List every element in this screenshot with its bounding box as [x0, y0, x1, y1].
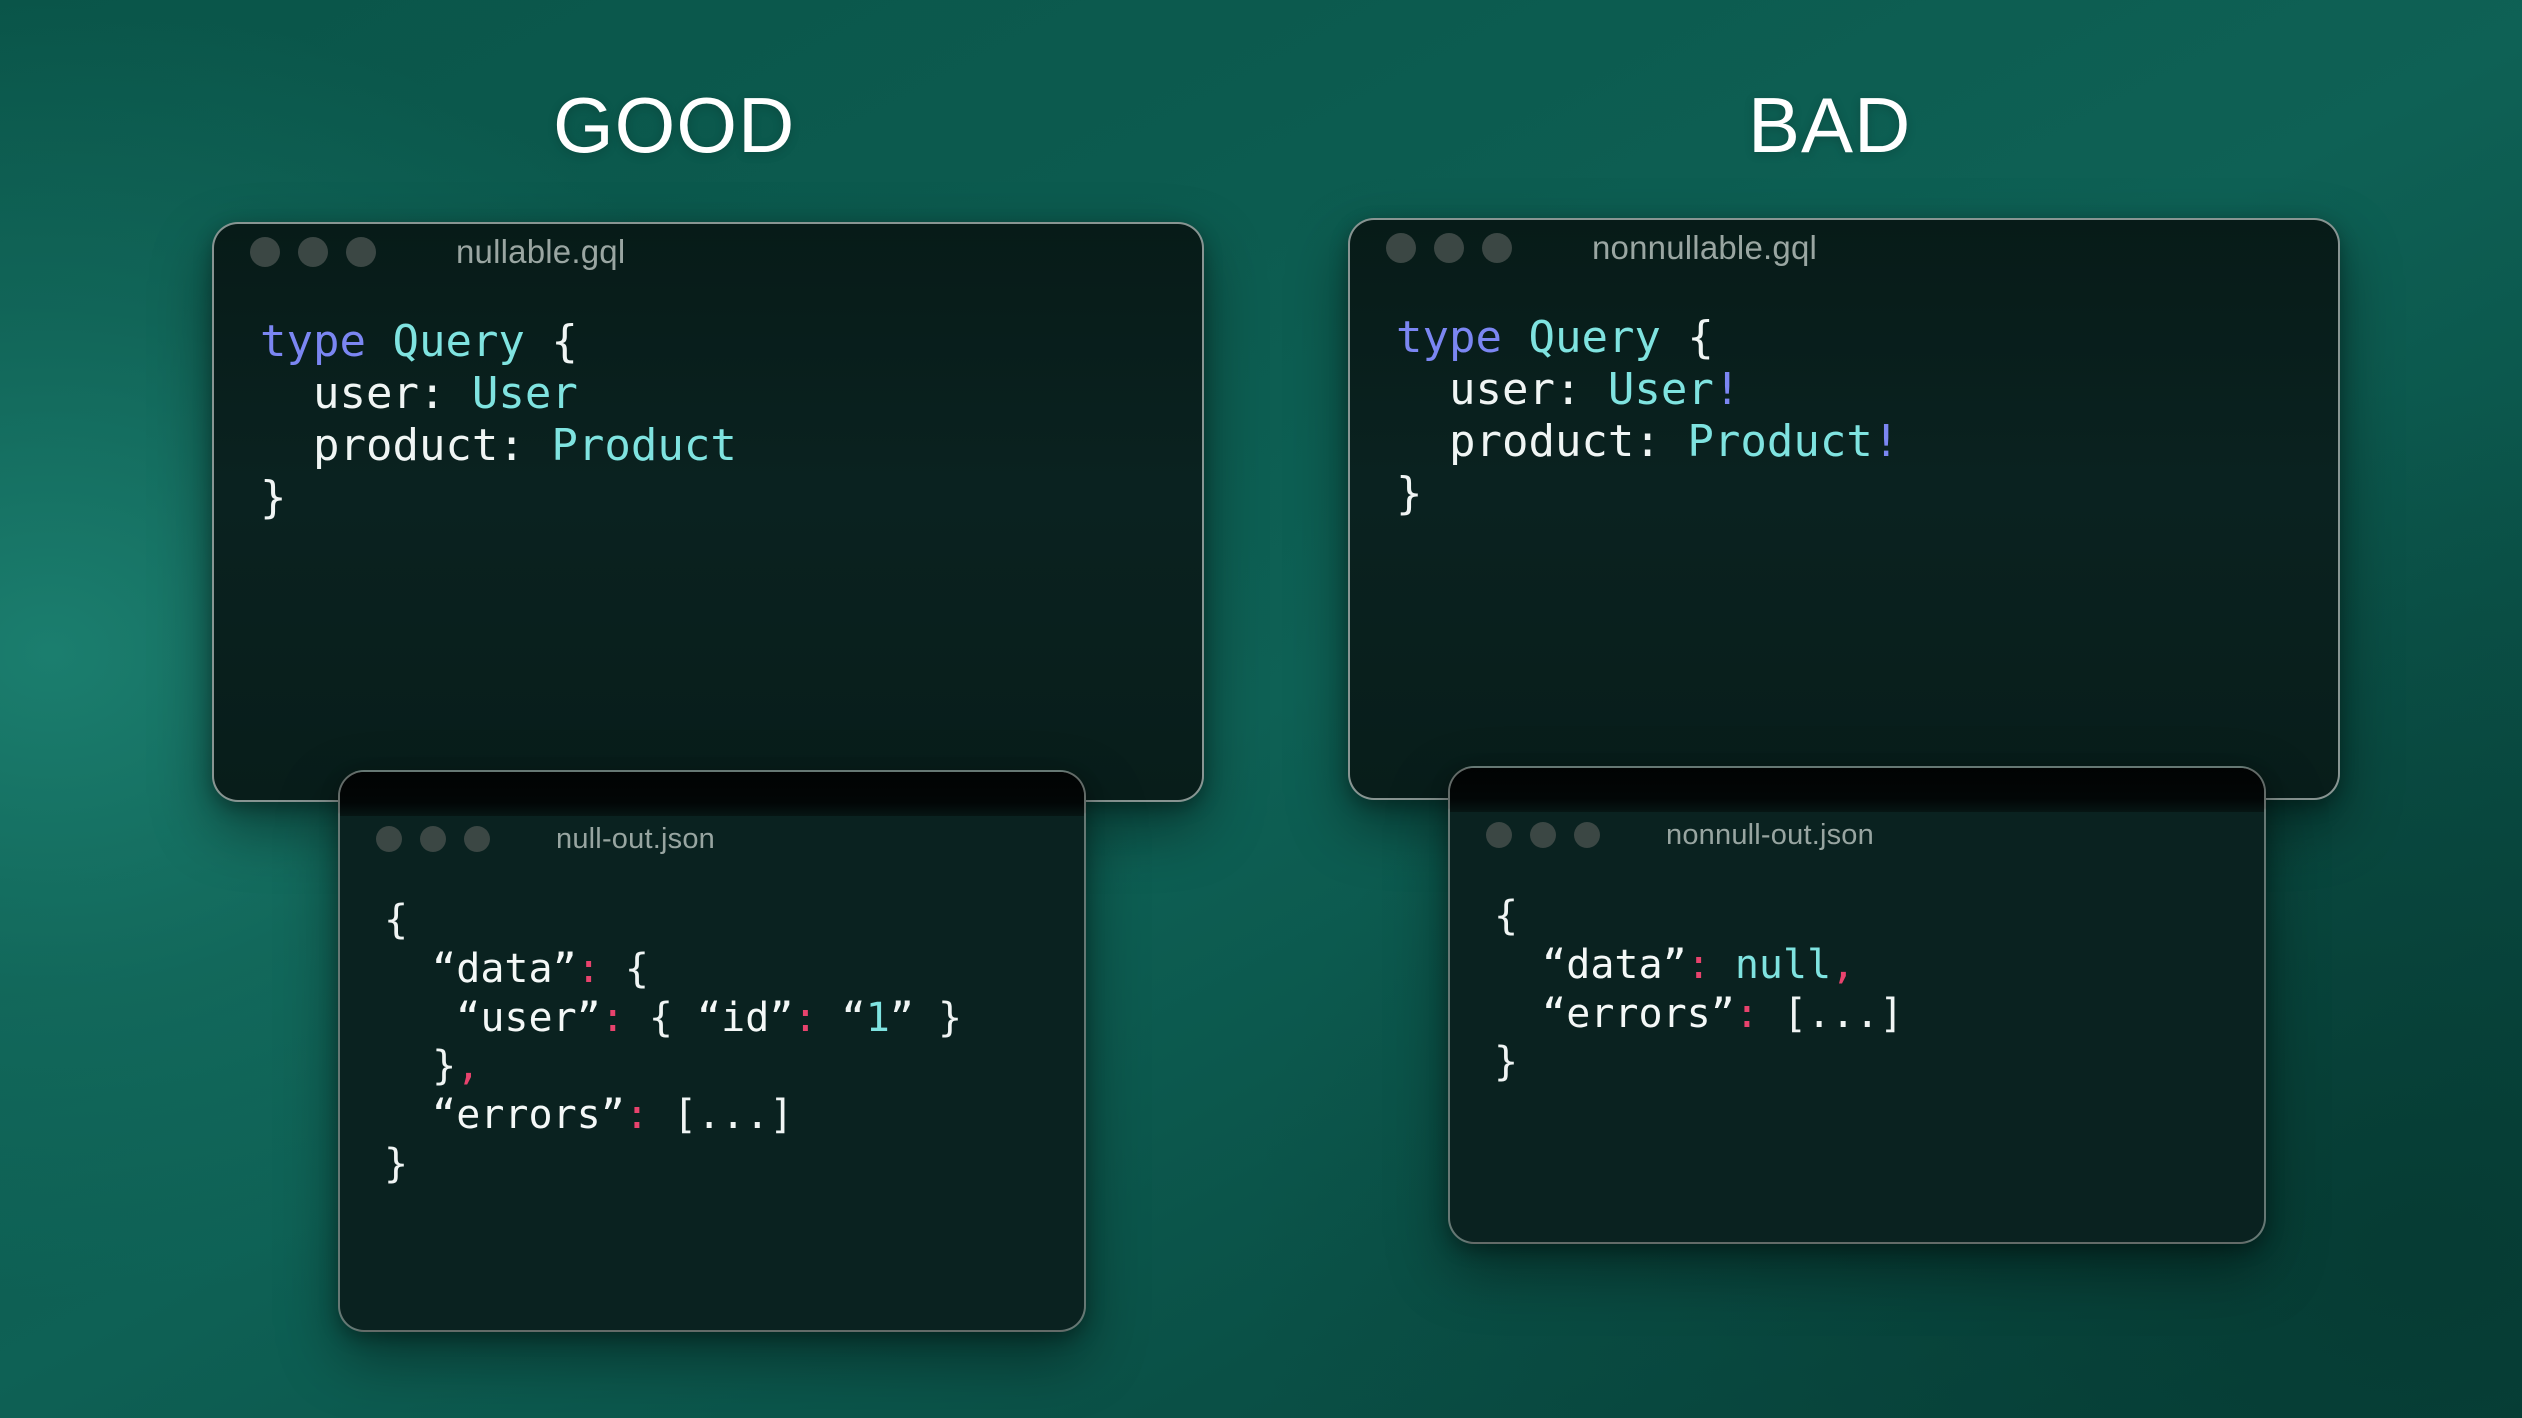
- column-title-bad: BAD: [1748, 86, 1911, 164]
- window-filename: nullable.gql: [456, 233, 625, 271]
- code-token: {: [601, 946, 649, 992]
- code-token: “data”: [384, 946, 577, 992]
- dot-maximize-icon[interactable]: [346, 237, 376, 267]
- code-token: “errors”: [1494, 991, 1735, 1037]
- code-line: },: [384, 1042, 1084, 1091]
- code-line: user: User!: [1396, 364, 2338, 416]
- code-line: type Query {: [260, 316, 1202, 368]
- code-line: {: [1494, 892, 2264, 941]
- code-line: “data”: null,: [1494, 941, 2264, 990]
- code-token: “id”: [697, 995, 793, 1041]
- code-token: !: [1714, 364, 1741, 415]
- traffic-light-dots: [376, 826, 490, 852]
- code-token: ,: [456, 1043, 480, 1089]
- code-token: {: [525, 316, 578, 367]
- code-token: [1711, 942, 1735, 988]
- code-token: User: [472, 368, 578, 419]
- code-token: :: [793, 995, 817, 1041]
- traffic-light-dots: [1486, 822, 1600, 848]
- window-filename: nonnullable.gql: [1592, 229, 1817, 267]
- code-line: “data”: {: [384, 945, 1084, 994]
- code-content: { “data”: null, “errors”: [...]}: [1450, 858, 2264, 1087]
- window-titlebar: nonnull-out.json: [1450, 812, 2264, 858]
- code-token: }: [260, 472, 287, 523]
- code-content: type Query { user: User! product: Produc…: [1350, 276, 2338, 520]
- code-token: [...]: [649, 1092, 794, 1138]
- code-content: { “data”: { “user”: { “id”: “1” } }, “er…: [340, 862, 1084, 1189]
- code-line: product: Product!: [1396, 416, 2338, 468]
- code-window-null-out-json[interactable]: null-out.json { “data”: { “user”: { “id”…: [338, 770, 1086, 1332]
- code-token: }: [1494, 1039, 1518, 1085]
- code-line: product: Product: [260, 420, 1202, 472]
- code-line: “errors”: [...]: [1494, 990, 2264, 1039]
- code-token: }: [384, 1141, 408, 1187]
- code-token: :: [601, 995, 625, 1041]
- code-token: “: [818, 995, 866, 1041]
- code-token: {: [384, 897, 408, 943]
- code-token: :: [577, 946, 601, 992]
- code-line: }: [1396, 468, 2338, 520]
- dot-maximize-icon[interactable]: [1574, 822, 1600, 848]
- code-line: {: [384, 896, 1084, 945]
- window-titlebar: null-out.json: [340, 816, 1084, 862]
- code-window-nullable-gql[interactable]: nullable.gql type Query { user: User pro…: [212, 222, 1204, 802]
- dot-minimize-icon[interactable]: [298, 237, 328, 267]
- column-title-good: GOOD: [553, 86, 795, 164]
- code-content: type Query { user: User product: Product…: [214, 280, 1202, 524]
- dot-minimize-icon[interactable]: [420, 826, 446, 852]
- code-token: ,: [1831, 942, 1855, 988]
- code-token: “errors”: [384, 1092, 625, 1138]
- code-window-nonnullable-gql[interactable]: nonnullable.gql type Query { user: User!…: [1348, 218, 2340, 800]
- window-titlebar: nonnullable.gql: [1350, 220, 2338, 276]
- code-token: product:: [260, 420, 551, 471]
- code-token: user:: [1396, 364, 1608, 415]
- code-token: Product: [1687, 416, 1872, 467]
- code-token: product:: [1396, 416, 1687, 467]
- code-token: [...]: [1759, 991, 1904, 1037]
- window-filename: nonnull-out.json: [1666, 819, 1874, 852]
- code-token: :: [1735, 991, 1759, 1037]
- code-line: }: [1494, 1038, 2264, 1087]
- code-line: }: [384, 1140, 1084, 1189]
- code-token: type: [260, 316, 366, 367]
- code-token: !: [1873, 416, 1900, 467]
- code-token: 1: [866, 995, 890, 1041]
- code-token: null: [1735, 942, 1831, 988]
- dot-close-icon[interactable]: [250, 237, 280, 267]
- window-titlebar: nullable.gql: [214, 224, 1202, 280]
- code-token: {: [625, 995, 697, 1041]
- code-window-nonnull-out-json[interactable]: nonnull-out.json { “data”: null, “errors…: [1448, 766, 2266, 1244]
- code-line: “user”: { “id”: “1” }: [384, 994, 1084, 1043]
- code-token: {: [1661, 312, 1714, 363]
- code-token: {: [1494, 893, 1518, 939]
- traffic-light-dots: [250, 237, 376, 267]
- code-token: }: [384, 1043, 456, 1089]
- code-line: user: User: [260, 368, 1202, 420]
- code-token: [366, 316, 393, 367]
- dot-minimize-icon[interactable]: [1530, 822, 1556, 848]
- code-token: user:: [260, 368, 472, 419]
- code-token: type: [1396, 312, 1502, 363]
- code-token: :: [625, 1092, 649, 1138]
- dot-close-icon[interactable]: [1486, 822, 1512, 848]
- code-token: User: [1608, 364, 1714, 415]
- dot-maximize-icon[interactable]: [1482, 233, 1512, 263]
- slide-canvas: GOOD BAD nullable.gql type Query { user:…: [0, 0, 2522, 1418]
- code-token: Product: [551, 420, 736, 471]
- code-line: type Query {: [1396, 312, 2338, 364]
- code-token: }: [1396, 468, 1423, 519]
- code-line: }: [260, 472, 1202, 524]
- dot-maximize-icon[interactable]: [464, 826, 490, 852]
- window-filename: null-out.json: [556, 823, 715, 856]
- dot-close-icon[interactable]: [1386, 233, 1416, 263]
- dot-minimize-icon[interactable]: [1434, 233, 1464, 263]
- code-token: “user”: [384, 995, 601, 1041]
- code-token: Query: [1528, 312, 1660, 363]
- code-token: “data”: [1494, 942, 1687, 988]
- code-token: [1502, 312, 1529, 363]
- code-token: Query: [392, 316, 524, 367]
- code-token: :: [1687, 942, 1711, 988]
- code-token: ” }: [890, 995, 962, 1041]
- traffic-light-dots: [1386, 233, 1512, 263]
- code-line: “errors”: [...]: [384, 1091, 1084, 1140]
- dot-close-icon[interactable]: [376, 826, 402, 852]
